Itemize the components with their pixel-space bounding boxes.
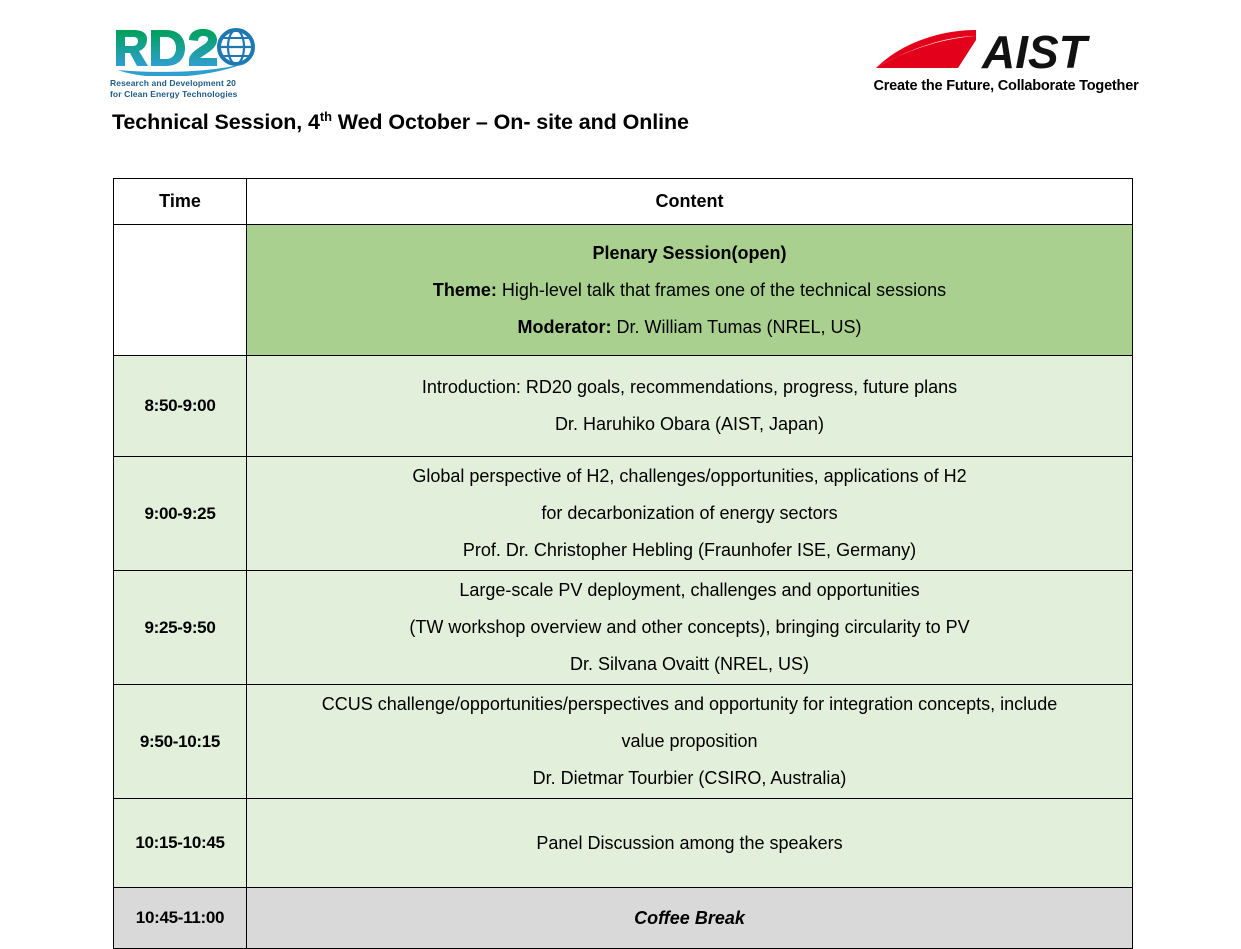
column-header-content: Content — [247, 179, 1133, 225]
content-line: Dr. Silvana Ovaitt (NREL, US) — [247, 646, 1132, 683]
rd20-logomark-icon — [110, 26, 258, 76]
schedule-table-body: Plenary Session(open)Theme: High-level t… — [114, 225, 1133, 949]
cell-time — [114, 225, 247, 356]
content-line-text: CCUS challenge/opportunities/perspective… — [322, 694, 1057, 714]
schedule-table: Time Content Plenary Session(open)Theme:… — [113, 178, 1133, 949]
content-line-text: Panel Discussion among the speakers — [536, 833, 842, 853]
cell-time: 10:45-11:00 — [114, 888, 247, 949]
cell-time: 8:50-9:00 — [114, 356, 247, 457]
cell-content: Coffee Break — [247, 888, 1133, 949]
table-header-row: Time Content — [114, 179, 1133, 225]
content-line-text: Dr. William Tumas (NREL, US) — [611, 317, 861, 337]
content-line: Panel Discussion among the speakers — [247, 825, 1132, 862]
page-title: Technical Session, 4th Wed October – On-… — [112, 110, 689, 135]
cell-content: Large-scale PV deployment, challenges an… — [247, 571, 1133, 685]
table-row: Plenary Session(open)Theme: High-level t… — [114, 225, 1133, 356]
schedule-table-wrapper: Time Content Plenary Session(open)Theme:… — [113, 178, 1132, 949]
content-line-text: Coffee Break — [634, 908, 745, 928]
content-line: value proposition — [247, 723, 1132, 760]
rd20-tagline-line2: for Clean Energy Technologies — [110, 89, 260, 100]
content-line: Theme: High-level talk that frames one o… — [247, 272, 1132, 309]
cell-content: Panel Discussion among the speakers — [247, 799, 1133, 888]
content-line-text: Dr. Silvana Ovaitt (NREL, US) — [570, 654, 809, 674]
page-title-ordinal-suffix: th — [320, 109, 332, 124]
table-row: 9:25-9:50Large-scale PV deployment, chal… — [114, 571, 1133, 685]
content-line: Coffee Break — [247, 900, 1132, 937]
content-line: Plenary Session(open) — [247, 235, 1132, 272]
content-line: Global perspective of H2, challenges/opp… — [247, 458, 1132, 495]
content-line: CCUS challenge/opportunities/perspective… — [247, 686, 1132, 723]
aist-tagline: Create the Future, Collaborate Together — [872, 78, 1140, 94]
page-title-before: Technical Session, 4 — [112, 110, 320, 134]
content-line: Large-scale PV deployment, challenges an… — [247, 572, 1132, 609]
rd20-tagline-line1: Research and Development 20 — [110, 78, 260, 89]
content-line: Moderator: Dr. William Tumas (NREL, US) — [247, 309, 1132, 346]
table-row: 10:45-11:00Coffee Break — [114, 888, 1133, 949]
content-line-text: Dr. Haruhiko Obara (AIST, Japan) — [555, 414, 824, 434]
content-line-text: value proposition — [621, 731, 757, 751]
column-header-time: Time — [114, 179, 247, 225]
aist-logo: AIST Create the Future, Collaborate Toge… — [872, 28, 1140, 94]
rd20-logo: Research and Development 20 for Clean En… — [110, 26, 260, 100]
svg-text:AIST: AIST — [981, 28, 1091, 76]
content-line-text: Global perspective of H2, challenges/opp… — [412, 466, 966, 486]
content-line-text: (TW workshop overview and other concepts… — [409, 617, 969, 637]
content-line-text: for decarbonization of energy sectors — [541, 503, 837, 523]
table-row: 10:15-10:45Panel Discussion among the sp… — [114, 799, 1133, 888]
content-line: Introduction: RD20 goals, recommendation… — [247, 369, 1132, 406]
content-line-text: High-level talk that frames one of the t… — [497, 280, 946, 300]
content-line: Dr. Haruhiko Obara (AIST, Japan) — [247, 406, 1132, 443]
cell-content: Plenary Session(open)Theme: High-level t… — [247, 225, 1133, 356]
content-line-label: Moderator: — [517, 317, 611, 337]
content-line: (TW workshop overview and other concepts… — [247, 609, 1132, 646]
content-line-text: Plenary Session(open) — [592, 243, 786, 263]
page-title-after: Wed October – On- site and Online — [332, 110, 689, 134]
content-line-text: Prof. Dr. Christopher Hebling (Fraunhofe… — [463, 540, 916, 560]
page-header: Research and Development 20 for Clean En… — [0, 0, 1241, 108]
table-row: 8:50-9:00Introduction: RD20 goals, recom… — [114, 356, 1133, 457]
cell-time: 9:25-9:50 — [114, 571, 247, 685]
cell-content: Introduction: RD20 goals, recommendation… — [247, 356, 1133, 457]
aist-logomark-icon: AIST — [872, 28, 1138, 76]
content-line-text: Introduction: RD20 goals, recommendation… — [422, 377, 957, 397]
table-row: 9:50-10:15CCUS challenge/opportunities/p… — [114, 685, 1133, 799]
content-line-text: Large-scale PV deployment, challenges an… — [459, 580, 919, 600]
schedule-table-head: Time Content — [114, 179, 1133, 225]
content-line-label: Theme: — [433, 280, 497, 300]
table-row: 9:00-9:25Global perspective of H2, chall… — [114, 457, 1133, 571]
cell-content: Global perspective of H2, challenges/opp… — [247, 457, 1133, 571]
content-line: Prof. Dr. Christopher Hebling (Fraunhofe… — [247, 532, 1132, 569]
content-line: for decarbonization of energy sectors — [247, 495, 1132, 532]
cell-content: CCUS challenge/opportunities/perspective… — [247, 685, 1133, 799]
rd20-tagline: Research and Development 20 for Clean En… — [110, 78, 260, 100]
content-line: Dr. Dietmar Tourbier (CSIRO, Australia) — [247, 760, 1132, 797]
cell-time: 10:15-10:45 — [114, 799, 247, 888]
cell-time: 9:50-10:15 — [114, 685, 247, 799]
content-line-text: Dr. Dietmar Tourbier (CSIRO, Australia) — [533, 768, 847, 788]
cell-time: 9:00-9:25 — [114, 457, 247, 571]
